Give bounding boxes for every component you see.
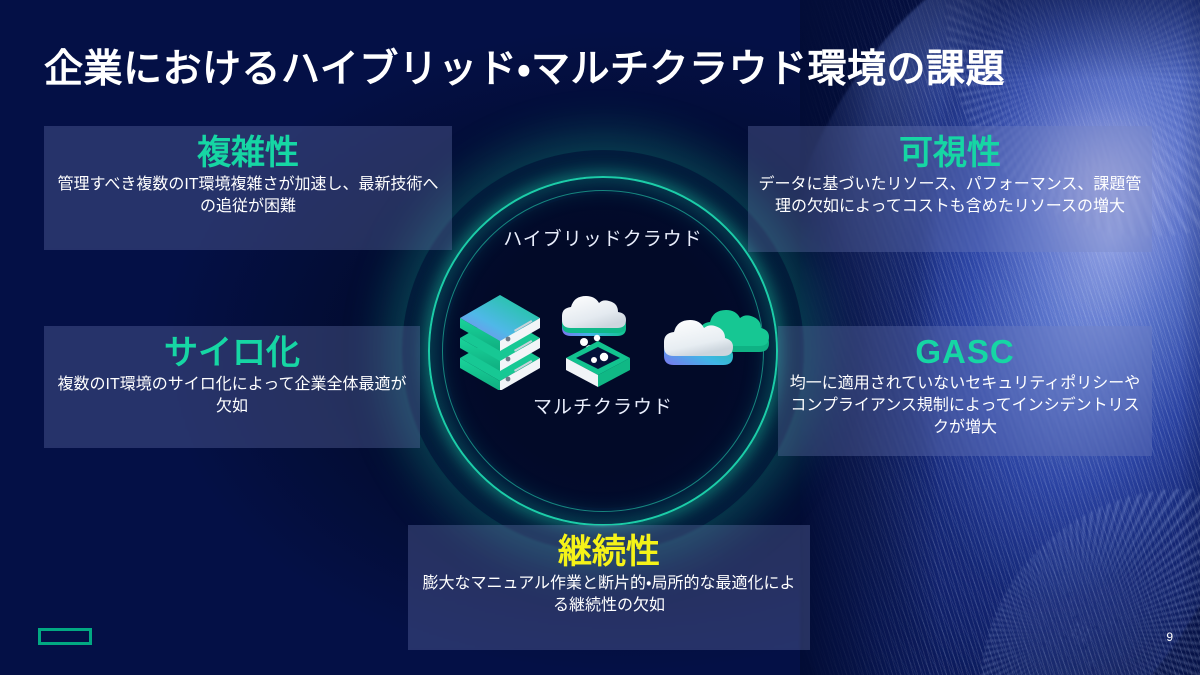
- card-continuity-title: 継続性: [418, 533, 800, 571]
- card-gasc-title: GASC: [788, 334, 1142, 371]
- multi-cloud-icon: [652, 280, 770, 390]
- hybrid-cloud-ring: ハイブリッドクラウド マルチクラウド: [428, 176, 778, 526]
- cloud-icons-row: [428, 280, 778, 390]
- server-stack-icon: [442, 280, 560, 390]
- ring-label-hybrid-cloud: ハイブリッドクラウド: [428, 224, 778, 251]
- card-gasc[interactable]: GASC 均一に適用されていないセキュリティポリシーやコンプライアンス規制によっ…: [778, 326, 1152, 456]
- page-title: 企業におけるハイブリッド・マルチクラウド環境の課題: [44, 38, 1005, 94]
- card-complexity-title: 複雑性: [54, 134, 442, 172]
- card-complexity[interactable]: 複雑性 管理すべき複数のIT環境複雑さが加速し、最新技術への追従が困難: [44, 126, 452, 250]
- ring-label-multi-cloud: マルチクラウド: [428, 392, 778, 419]
- card-silo[interactable]: サイロ化 複数のIT環境のサイロ化によって企業全体最適が欠如: [44, 326, 420, 448]
- card-complexity-body: 管理すべき複数のIT環境複雑さが加速し、最新技術への追従が困難: [54, 174, 442, 218]
- slide-canvas: 企業におけるハイブリッド・マルチクラウド環境の課題 ハイブリッドクラウド マルチ…: [0, 0, 1200, 675]
- cloud-migration-icon: [544, 280, 662, 390]
- card-silo-body: 複数のIT環境のサイロ化によって企業全体最適が欠如: [54, 374, 410, 418]
- fiber-fade-right: [1180, 0, 1200, 675]
- card-continuity[interactable]: 継続性 膨大なマニュアル作業と断片的・局所的な最適化による継続性の欠如: [408, 525, 810, 650]
- card-visibility-title: 可視性: [758, 134, 1142, 172]
- hpe-logo: [38, 628, 92, 645]
- card-continuity-body: 膨大なマニュアル作業と断片的・局所的な最適化による継続性の欠如: [418, 573, 800, 617]
- card-visibility-body: データに基づいたリソース、パフォーマンス、課題管理の欠如によってコストも含めたリ…: [758, 174, 1142, 218]
- card-visibility[interactable]: 可視性 データに基づいたリソース、パフォーマンス、課題管理の欠如によってコストも…: [748, 126, 1152, 252]
- page-number: 9: [1166, 630, 1173, 644]
- card-silo-title: サイロ化: [54, 334, 410, 372]
- card-gasc-body: 均一に適用されていないセキュリティポリシーやコンプライアンス規制によってインシデ…: [788, 373, 1142, 439]
